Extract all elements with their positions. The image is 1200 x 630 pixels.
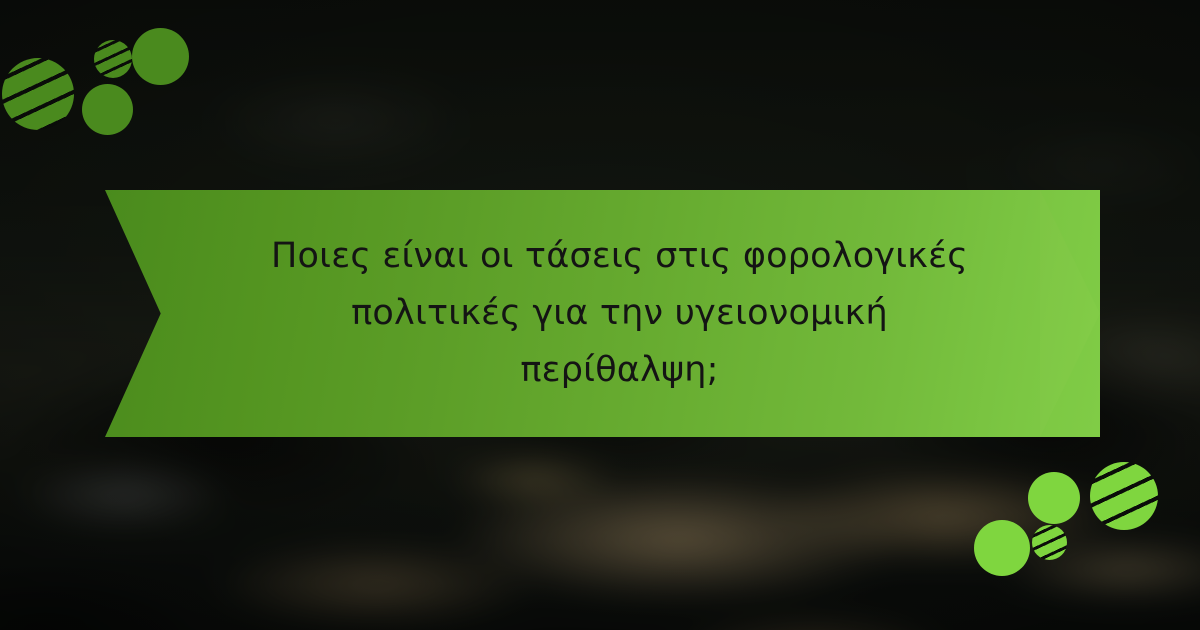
circle-cluster-bottom-right xyxy=(960,440,1200,630)
decorative-circle-striped xyxy=(2,58,74,130)
decorative-circle-striped-small xyxy=(94,40,132,78)
decorative-circle-plain xyxy=(132,28,189,85)
decorative-circle-plain xyxy=(974,520,1030,576)
decorative-circle-striped xyxy=(1090,462,1158,530)
decorative-circle-plain xyxy=(1028,472,1080,524)
decorative-circle-plain xyxy=(82,84,133,135)
headline-banner: Ποιες είναι οι τάσεις στις φορολογικές π… xyxy=(105,190,1100,437)
circle-cluster-top-left xyxy=(0,0,250,180)
social-card: Ποιες είναι οι τάσεις στις φορολογικές π… xyxy=(0,0,1200,630)
decorative-circle-striped-small xyxy=(1032,525,1067,560)
headline-text: Ποιες είναι οι τάσεις στις φορολογικές π… xyxy=(223,228,983,398)
